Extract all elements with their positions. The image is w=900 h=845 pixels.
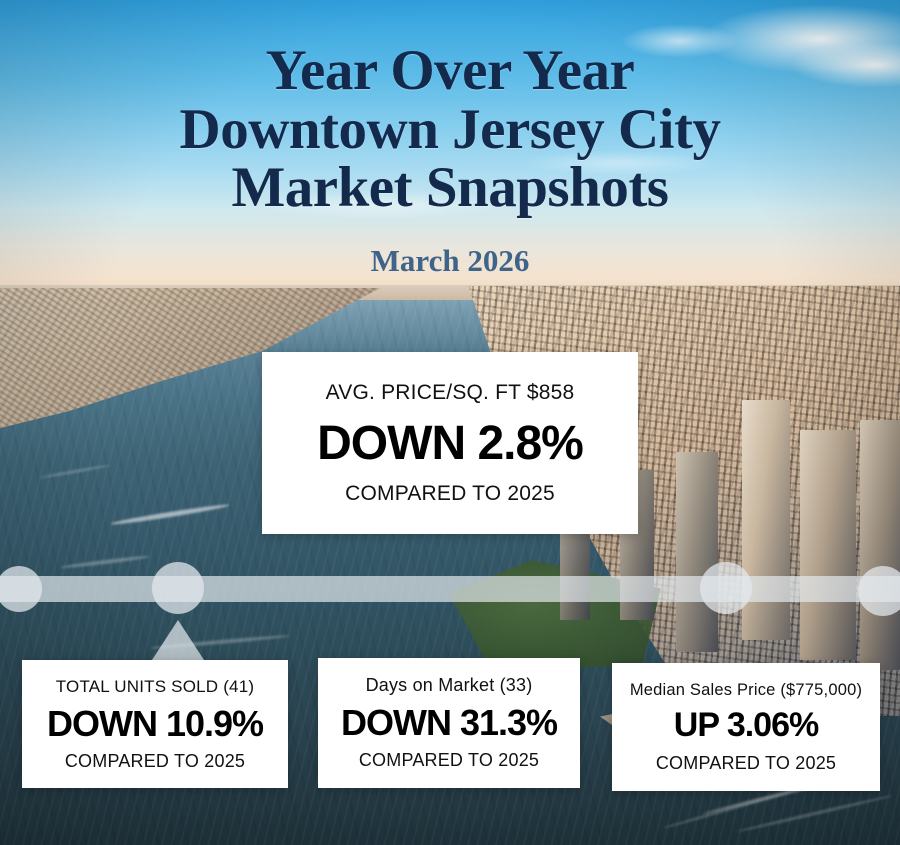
title-line-1: Year Over Year xyxy=(0,42,900,101)
timeline-node xyxy=(858,566,900,616)
timeline-node xyxy=(700,562,752,614)
stat-compare: COMPARED TO 2025 xyxy=(65,751,245,772)
stat-value: DOWN 2.8% xyxy=(317,416,583,471)
skyscraper xyxy=(800,430,856,660)
stat-label: TOTAL UNITS SOLD (41) xyxy=(56,677,254,697)
stat-compare: COMPARED TO 2025 xyxy=(345,482,555,506)
timeline-bar xyxy=(0,576,900,602)
skyscraper xyxy=(860,420,900,670)
stat-card-avg-price-per-sqft: AVG. PRICE/SQ. FT $858 DOWN 2.8% COMPARE… xyxy=(262,352,638,534)
stat-value: DOWN 10.9% xyxy=(47,703,263,745)
stat-label: AVG. PRICE/SQ. FT $858 xyxy=(326,381,575,405)
timeline-pointer-triangle xyxy=(152,620,204,660)
stat-compare: COMPARED TO 2025 xyxy=(359,750,539,771)
page-subtitle: March 2026 xyxy=(0,243,900,279)
stat-label: Days on Market (33) xyxy=(366,675,533,696)
stat-card-median-sales-price: Median Sales Price ($775,000) UP 3.06% C… xyxy=(612,663,880,791)
stat-card-days-on-market: Days on Market (33) DOWN 31.3% COMPARED … xyxy=(318,658,580,788)
stat-card-total-units-sold: TOTAL UNITS SOLD (41) DOWN 10.9% COMPARE… xyxy=(22,660,288,788)
title-line-3: Market Snapshots xyxy=(0,159,900,218)
skyscraper xyxy=(676,452,718,652)
title-line-2: Downtown Jersey City xyxy=(0,101,900,160)
timeline-node xyxy=(152,562,204,614)
stat-label: Median Sales Price ($775,000) xyxy=(630,681,862,700)
stat-compare: COMPARED TO 2025 xyxy=(656,753,836,774)
stat-value: DOWN 31.3% xyxy=(341,702,557,744)
page-title: Year Over Year Downtown Jersey City Mark… xyxy=(0,42,900,218)
skyscraper xyxy=(742,400,790,640)
market-snapshot-poster: Year Over Year Downtown Jersey City Mark… xyxy=(0,0,900,845)
stat-value: UP 3.06% xyxy=(674,706,818,745)
